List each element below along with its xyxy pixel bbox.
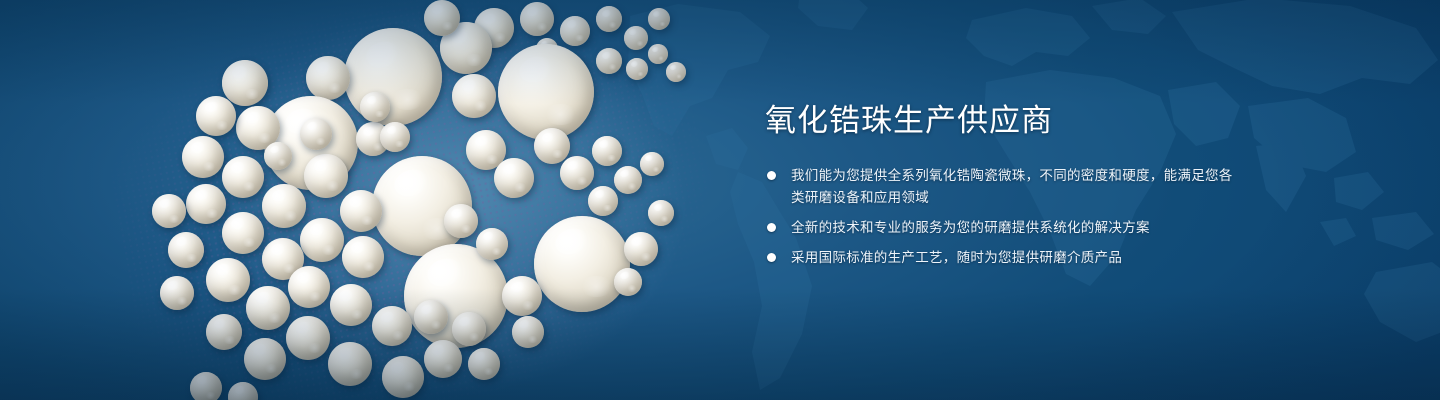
hero-banner: 氧化锆珠生产供应商 我们能为您提供全系列氧化锆陶瓷微珠，不同的密度和硬度，能满足…	[0, 0, 1440, 400]
banner-vignette	[0, 0, 1440, 400]
